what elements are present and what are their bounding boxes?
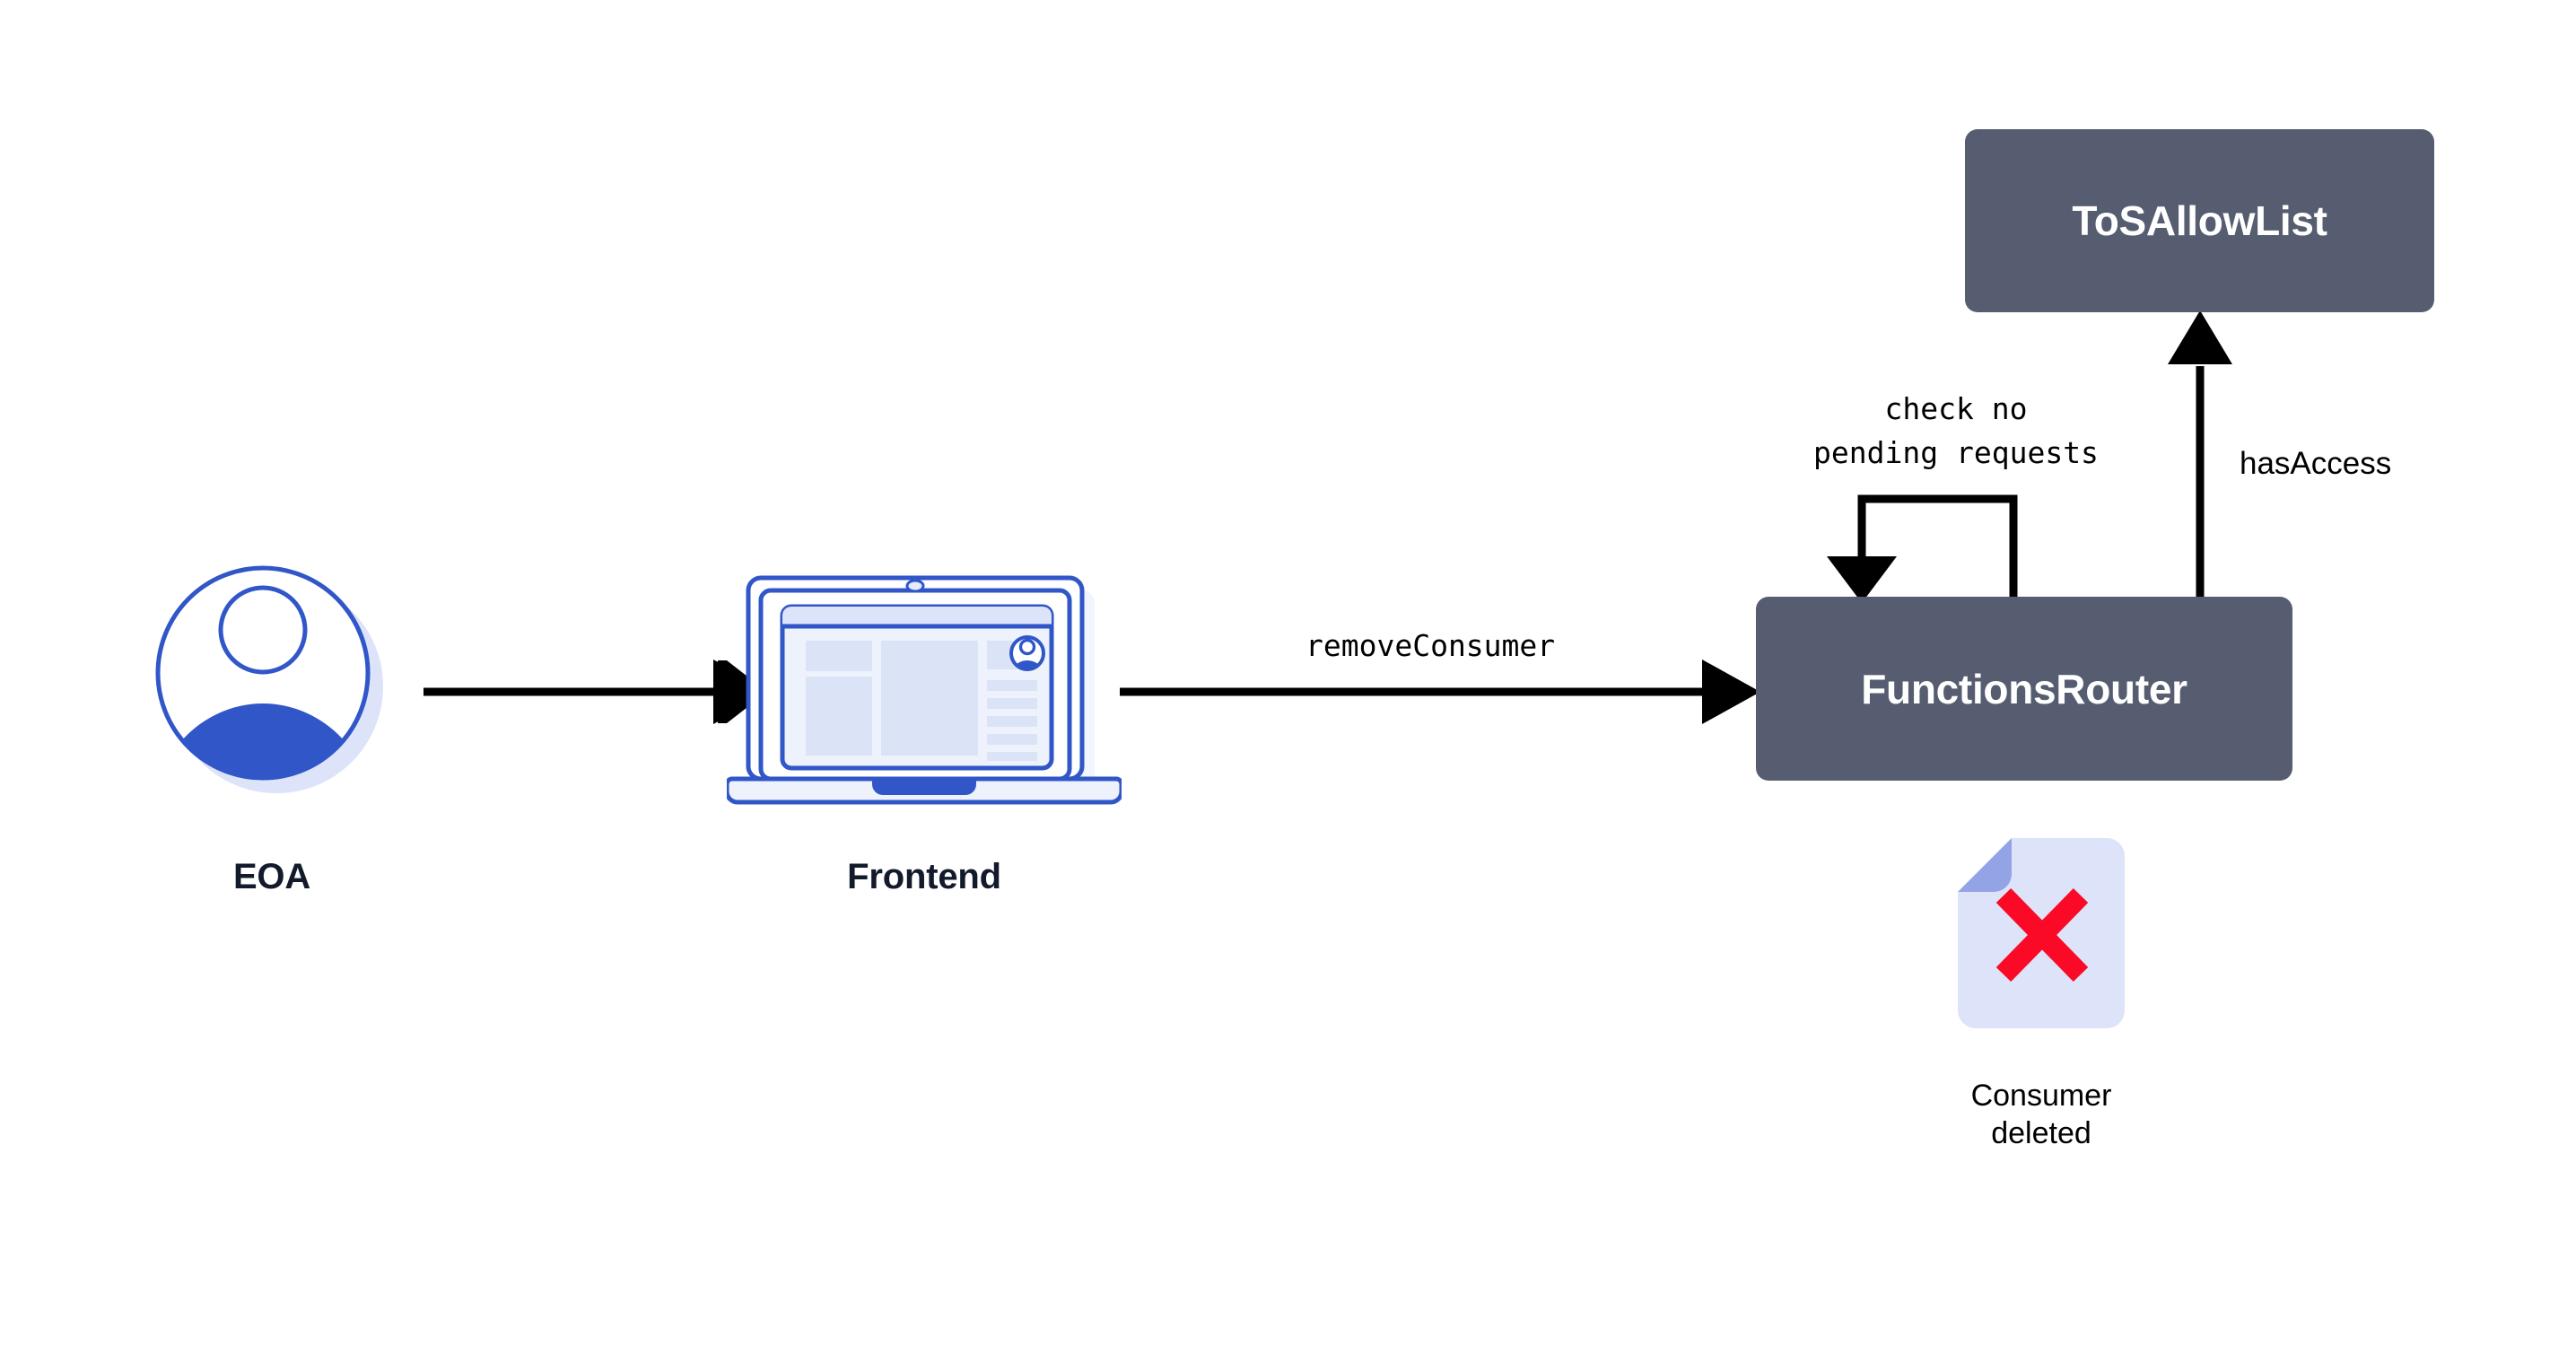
laptop-icon <box>727 571 1122 808</box>
user-avatar-icon <box>151 561 393 803</box>
eoa-label: EOA <box>128 857 415 897</box>
eoa-icon-wrap <box>151 561 393 803</box>
frontend-icon-wrap <box>727 571 1122 808</box>
consumer-deleted-caption: Consumer deleted <box>1907 1077 2176 1152</box>
node-tos-allow-list-label: ToSAllowList <box>2072 197 2327 245</box>
diagram-canvas: EOA <box>0 0 2576 1363</box>
consumer-deleted-caption-line2: deleted <box>1907 1114 2176 1152</box>
frontend-label: Frontend <box>781 857 1068 897</box>
node-functions-router[interactable]: FunctionsRouter <box>1756 597 2292 781</box>
edge-router-self-loop <box>1827 499 2013 603</box>
edge-label-remove-consumer: removeConsumer <box>1305 628 1555 663</box>
edge-label-check-no-pending-line1: check no <box>1777 390 2135 428</box>
node-functions-router-label: FunctionsRouter <box>1861 665 2187 713</box>
document-deleted-icon <box>1956 834 2126 1039</box>
consumer-deleted-icon-wrap <box>1956 834 2126 1039</box>
edge-eoa-to-frontend <box>424 660 772 724</box>
edge-label-has-access: hasAccess <box>2240 446 2391 482</box>
node-tos-allow-list[interactable]: ToSAllowList <box>1965 129 2434 312</box>
edge-label-check-no-pending-line2: pending requests <box>1777 434 2135 472</box>
edge-frontend-to-router <box>1120 660 1760 724</box>
consumer-deleted-caption-line1: Consumer <box>1907 1077 2176 1114</box>
